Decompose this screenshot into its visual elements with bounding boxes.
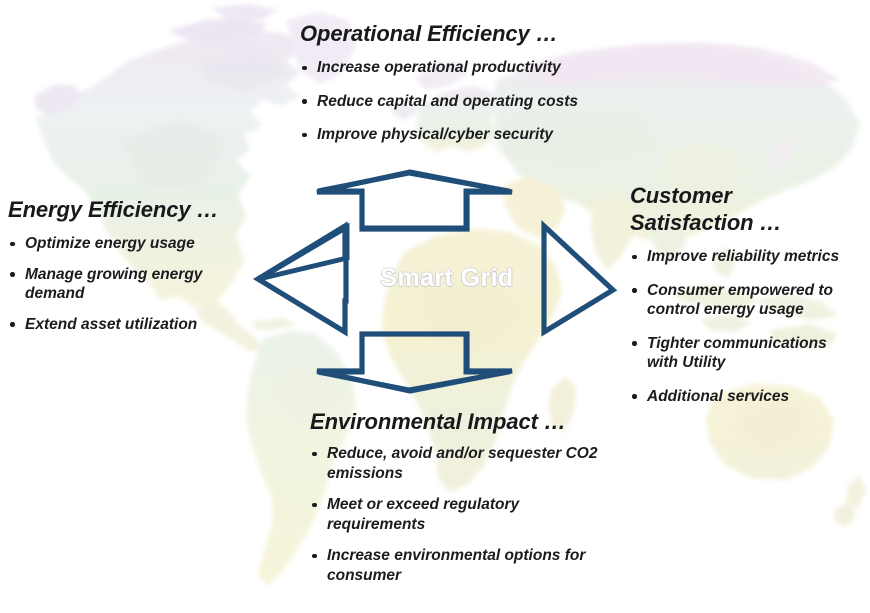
customer-satisfaction-block: Customer Satisfaction … Improve reliabil… <box>630 182 858 420</box>
smart-grid-benefits-diagram: Smart Grid <box>0 0 870 613</box>
list-item: Increase environmental options for consu… <box>310 546 620 585</box>
arrow-down-icon <box>318 334 509 390</box>
list-item: Meet or exceed regulatory requirements <box>310 495 620 534</box>
list-item: Additional services <box>630 387 858 407</box>
energy-efficiency-heading: Energy Efficiency … <box>8 196 250 223</box>
list-item: Reduce capital and operating costs <box>300 92 630 112</box>
list-item: Increase operational productivity <box>300 58 630 78</box>
environmental-impact-block: Environmental Impact … Reduce, avoid and… <box>310 408 620 597</box>
operational-efficiency-bullets: Increase operational productivity Reduce… <box>300 58 630 145</box>
list-item: Reduce, avoid and/or sequester CO2 emiss… <box>310 444 620 483</box>
list-item: Extend asset utilization <box>8 315 250 335</box>
list-item: Improve reliability metrics <box>630 247 858 267</box>
arrow-up-icon <box>318 173 509 228</box>
list-item: Manage growing energy demand <box>8 265 250 304</box>
energy-efficiency-bullets: Optimize energy usage Manage growing ene… <box>8 234 250 334</box>
list-item: Improve physical/cyber security <box>300 125 630 145</box>
operational-efficiency-heading: Operational Efficiency … <box>300 20 630 47</box>
list-item: Tighter communications with Utility <box>630 334 858 373</box>
customer-satisfaction-heading: Customer Satisfaction … <box>630 182 858 236</box>
environmental-impact-bullets: Reduce, avoid and/or sequester CO2 emiss… <box>310 444 620 585</box>
list-item: Optimize energy usage <box>8 234 250 254</box>
list-item: Consumer empowered to control energy usa… <box>630 281 858 320</box>
operational-efficiency-block: Operational Efficiency … Increase operat… <box>300 20 630 159</box>
energy-efficiency-block: Energy Efficiency … Optimize energy usag… <box>8 196 250 345</box>
environmental-impact-heading: Environmental Impact … <box>310 408 620 435</box>
customer-satisfaction-bullets: Improve reliability metrics Consumer emp… <box>630 247 858 406</box>
